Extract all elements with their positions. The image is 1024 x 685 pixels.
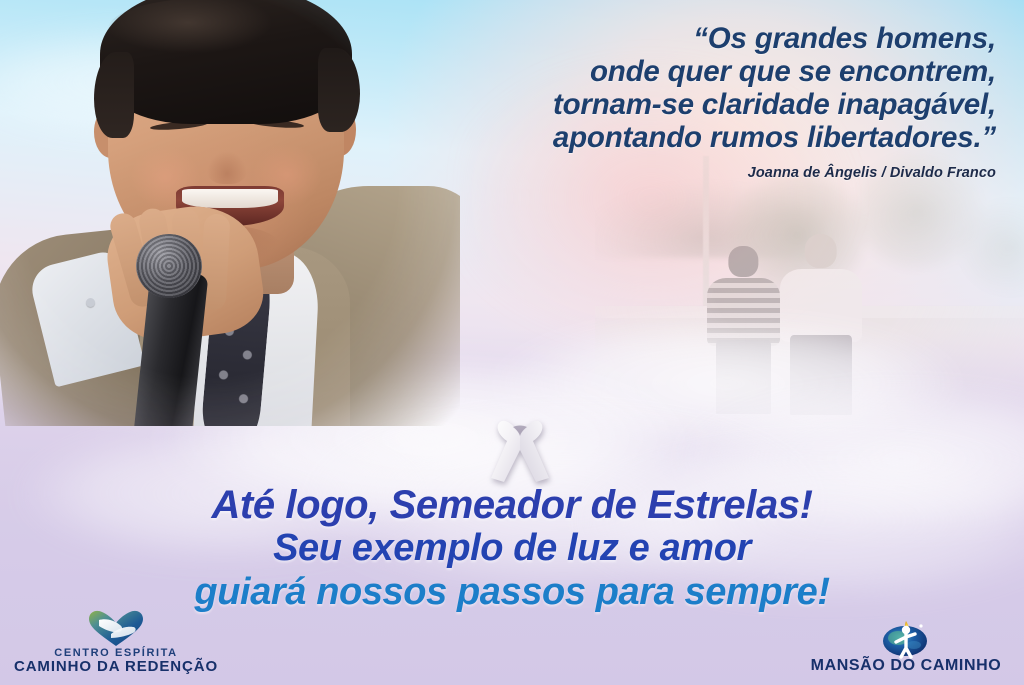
quote-attribution: Joanna de Ângelis / Divaldo Franco [376,165,996,181]
logo-right-text: MANSÃO DO CAMINHO [811,658,1002,675]
quote-line-3: tornam-se claridade inapagável, [376,88,996,121]
white-ribbon-icon [487,408,553,486]
globe-figure-flame-icon [881,618,931,658]
cuff-button [86,298,95,307]
heart-hands-icon [87,608,145,648]
memorial-poster: “Os grandes homens, onde quer que se enc… [0,0,1024,685]
quote-line-4: apontando rumos libertadores.” [376,121,996,154]
person-head [804,234,837,268]
headline-line-1: Até logo, Semeador de Estrelas! [0,484,1024,526]
headline-line-2: Seu exemplo de luz e amor [0,528,1024,568]
headline-block: Até logo, Semeador de Estrelas! Seu exem… [0,484,1024,612]
hair-sideburn-right [318,48,360,132]
hair-highlight [108,0,308,60]
person-head [729,246,758,277]
quote-line-2: onde quer que se encontrem, [376,55,996,88]
teeth [182,189,277,207]
logo-centro-espirita-caminho-da-redencao: CENTRO ESPÍRITA CAMINHO DA REDENÇÃO [8,608,224,675]
logo-mansao-do-caminho: MANSÃO DO CAMINHO [798,618,1014,675]
quote-block: “Os grandes homens, onde quer que se enc… [376,22,996,181]
logo-left-line-2: CAMINHO DA REDENÇÃO [14,659,218,675]
hair-sideburn-left [94,52,134,138]
logo-right-line-2: MANSÃO DO CAMINHO [811,658,1002,675]
headline-line-3: guiará nossos passos para sempre! [0,572,1024,612]
quote-line-1: “Os grandes homens, [376,22,996,55]
nose [204,132,250,184]
logo-left-text: CENTRO ESPÍRITA CAMINHO DA REDENÇÃO [14,648,218,675]
